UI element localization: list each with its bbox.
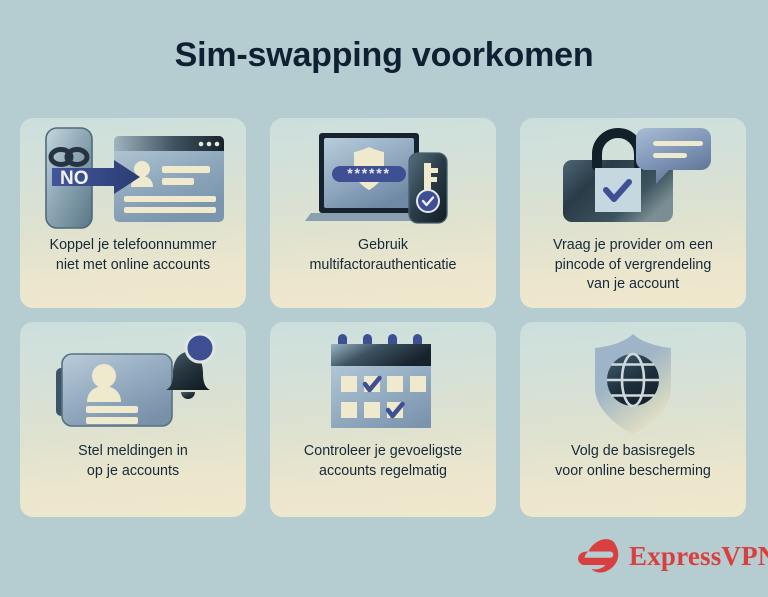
padlock-check-speech-bubble-icon — [520, 118, 746, 236]
tip-card-provider-pin[interactable]: Vraag je provider om een pincode of verg… — [520, 118, 746, 308]
tip-card-mfa[interactable]: ****** Gebruik multifactorauthenticatie — [270, 118, 496, 308]
id-card-bell-notification-icon — [20, 322, 246, 442]
tip-caption: Stel meldingen in op je accounts — [68, 442, 198, 481]
tip-card-notifications[interactable]: Stel meldingen in op je accounts — [20, 322, 246, 517]
tip-caption: Volg de basisregels voor online bescherm… — [545, 442, 721, 481]
no-label: NO — [60, 168, 89, 189]
tip-card-check-accounts[interactable]: Controleer je gevoeligste accounts regel… — [270, 322, 496, 517]
shield-globe-icon — [520, 322, 746, 442]
tip-card-basics[interactable]: Volg de basisregels voor online bescherm… — [520, 322, 746, 517]
expressvpn-wordmark: ExpressVPN — [629, 541, 768, 572]
tips-grid: NO Koppel je telefoonnummer niet met onl… — [20, 118, 748, 517]
expressvpn-e-mark-icon — [578, 538, 620, 574]
tip-caption: Gebruik multifactorauthenticatie — [299, 236, 466, 275]
page-title: Sim-swapping voorkomen — [0, 36, 768, 75]
tip-caption: Controleer je gevoeligste accounts regel… — [294, 442, 472, 481]
expressvpn-logo[interactable]: ExpressVPN — [578, 538, 768, 574]
tip-caption: Vraag je provider om een pincode of verg… — [543, 236, 723, 295]
password-mask: ****** — [347, 165, 391, 181]
phone-link-no-arrow-browser-icon: NO — [20, 118, 246, 236]
tip-caption: Koppel je telefoonnummer niet met online… — [40, 236, 227, 275]
calendar-checkmarks-icon — [270, 322, 496, 442]
tip-card-phone-accounts[interactable]: NO Koppel je telefoonnummer niet met onl… — [20, 118, 246, 308]
infographic-page: Sim-swapping voorkomen — [0, 0, 768, 597]
laptop-shield-password-phone-key-icon: ****** — [270, 118, 496, 236]
